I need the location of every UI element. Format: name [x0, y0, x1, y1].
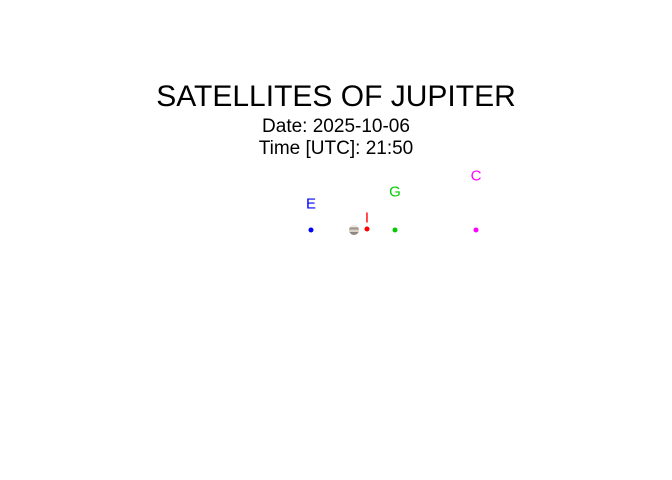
moon-marker-icon[interactable] [365, 227, 370, 232]
moon-label-ganymede: G [389, 185, 401, 200]
moon-label-europa: E [306, 197, 316, 212]
moon-marker-icon[interactable] [474, 228, 479, 233]
moon-label-io: I [365, 211, 369, 226]
moon-label-callisto: C [471, 169, 482, 184]
moon-marker-icon[interactable] [393, 228, 398, 233]
jupiter-band [349, 232, 359, 235]
jupiter-planet-icon [349, 225, 359, 235]
moon-marker-icon[interactable] [309, 228, 314, 233]
sky-plot-area: EIGC [0, 0, 672, 480]
satellites-of-jupiter-view: SATELLITES OF JUPITER Date: 2025-10-06 T… [0, 0, 672, 480]
